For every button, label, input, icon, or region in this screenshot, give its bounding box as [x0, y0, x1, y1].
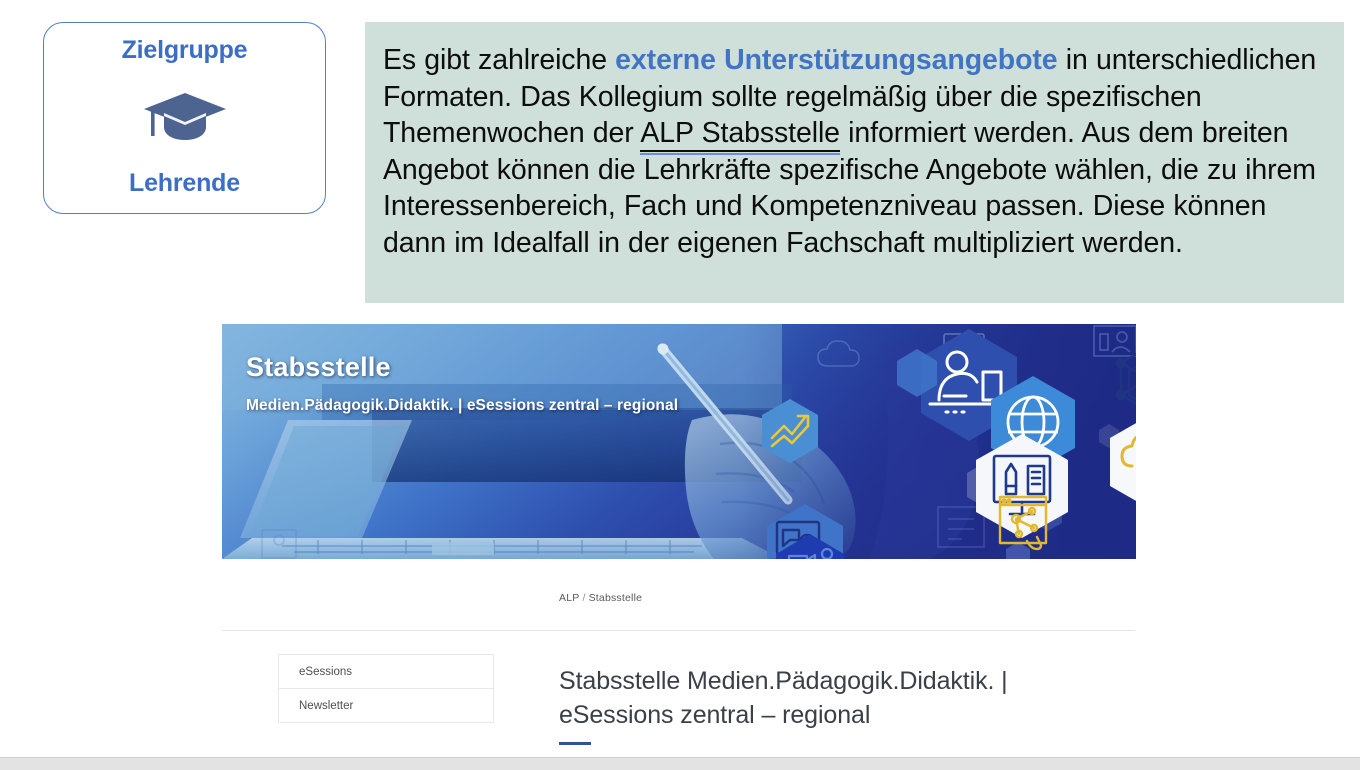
- breadcrumb-separator: /: [582, 592, 585, 604]
- website-screenshot: Stabsstelle Medien.Pädagogik.Didaktik. |…: [222, 324, 1136, 758]
- sidebar-item-label: eSessions: [299, 666, 352, 678]
- breadcrumb: ALP/Stabsstelle: [559, 592, 642, 604]
- banner-title: Stabsstelle: [246, 352, 678, 383]
- slide-canvas: Zielgruppe Lehrende Es gibt zahlreiche e…: [0, 0, 1360, 770]
- content-area: eSessions Newsletter Stabsstelle Medien.…: [222, 654, 1136, 758]
- main-heading-block: Stabsstelle Medien.Pädagogik.Didaktik. |…: [559, 664, 1029, 745]
- description-paragraph: Es gibt zahlreiche externe Unterstützung…: [383, 42, 1320, 262]
- bottom-status-bar: [0, 757, 1360, 770]
- banner-text-block: Stabsstelle Medien.Pädagogik.Didaktik. |…: [246, 352, 678, 415]
- target-group-title: Zielgruppe: [122, 37, 248, 65]
- sidebar-item-newsletter[interactable]: Newsletter: [279, 689, 493, 723]
- link-alp-stabsstelle[interactable]: ALP Stabsstelle: [640, 117, 840, 152]
- description-panel: Es gibt zahlreiche externe Unterstützung…: [365, 22, 1344, 303]
- page-title-line2: eSessions zentral – regional: [559, 701, 870, 729]
- content-divider: [222, 630, 1135, 631]
- breadcrumb-root[interactable]: ALP: [559, 592, 579, 604]
- sidebar-item-esessions[interactable]: eSessions: [279, 655, 493, 689]
- breadcrumb-current: Stabsstelle: [589, 592, 643, 604]
- title-accent-bar: [559, 742, 591, 745]
- target-group-card: Zielgruppe Lehrende: [43, 22, 326, 214]
- description-text-1: Es gibt zahlreiche: [383, 44, 615, 76]
- highlight-external-offers: externe Unterstützungsangebote: [615, 44, 1057, 76]
- hero-banner: Stabsstelle Medien.Pädagogik.Didaktik. |…: [222, 324, 1136, 559]
- page-title: Stabsstelle Medien.Pädagogik.Didaktik. |…: [559, 664, 1029, 732]
- side-menu: eSessions Newsletter: [278, 654, 494, 723]
- graduation-cap-icon: [44, 65, 325, 170]
- sidebar-item-label: Newsletter: [299, 700, 353, 712]
- banner-subtitle: Medien.Pädagogik.Didaktik. | eSessions z…: [246, 397, 678, 415]
- page-title-line1: Stabsstelle Medien.Pädagogik.Didaktik. |: [559, 667, 1008, 695]
- bottom-bar-line: [0, 757, 1360, 758]
- target-group-subtitle: Lehrende: [129, 170, 240, 198]
